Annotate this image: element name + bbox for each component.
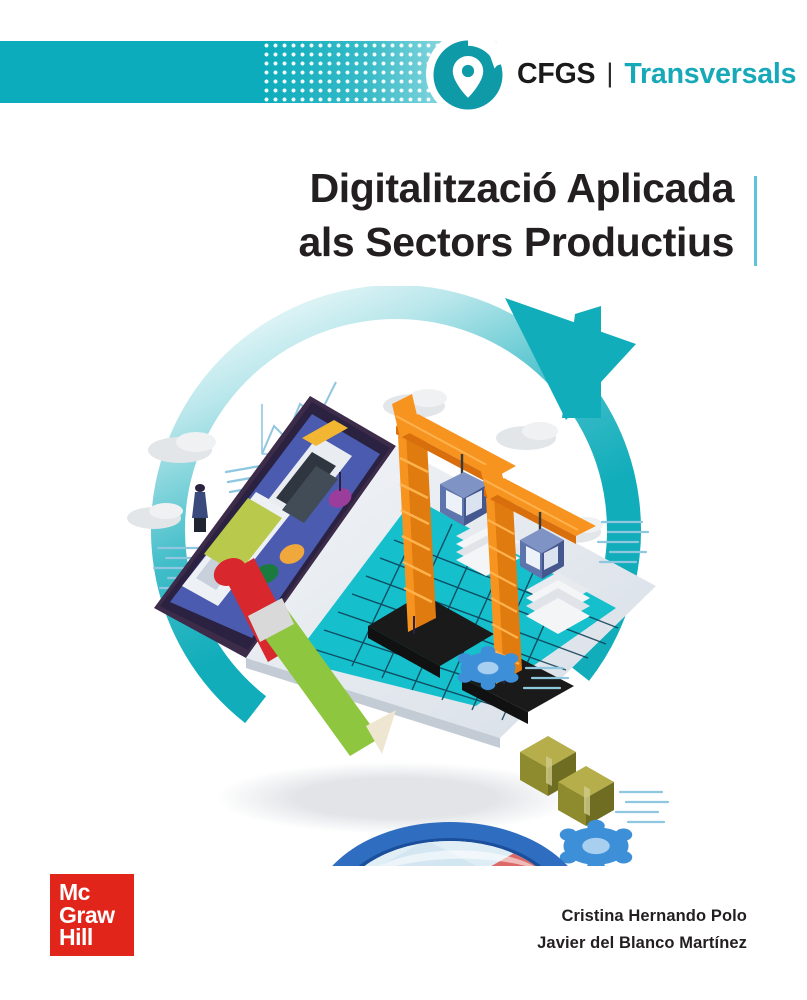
collection-family: Transversals (624, 58, 796, 91)
header-banner (0, 41, 497, 103)
magnifying-glass-icon (236, 822, 588, 866)
collection-code: CFGS (517, 58, 595, 91)
author-name-2: Javier del Blanco Martínez (537, 930, 747, 957)
header-collection-label: CFGS | Transversals (517, 54, 796, 94)
book-cover: CFGS | Transversals Digitalització Aplic… (0, 0, 807, 1000)
publisher-logo-mcgraw-hill: Mc Graw Hill (50, 874, 134, 956)
location-pin-refresh-icon (424, 30, 512, 118)
page-title: Digitalització Aplicada als Sectors Prod… (94, 161, 734, 269)
title-line-2: als Sectors Productius (94, 215, 734, 269)
title-accent-rule (754, 176, 757, 266)
gear-icon-right (560, 820, 633, 866)
publisher-line-1: Mc (59, 881, 90, 904)
author-name-1: Cristina Hernando Polo (537, 903, 747, 930)
publisher-line-3: Hill (59, 926, 93, 949)
banner-solid-fill (0, 41, 270, 103)
data-lines-upper-right-2 (616, 792, 668, 822)
publisher-line-2: Graw (59, 904, 115, 927)
cover-illustration (96, 286, 710, 866)
author-list: Cristina Hernando Polo Javier del Blanco… (537, 903, 747, 956)
header-separator: | (606, 58, 613, 89)
title-line-1: Digitalització Aplicada (94, 161, 734, 215)
person-figure-on-laptop (192, 484, 208, 532)
